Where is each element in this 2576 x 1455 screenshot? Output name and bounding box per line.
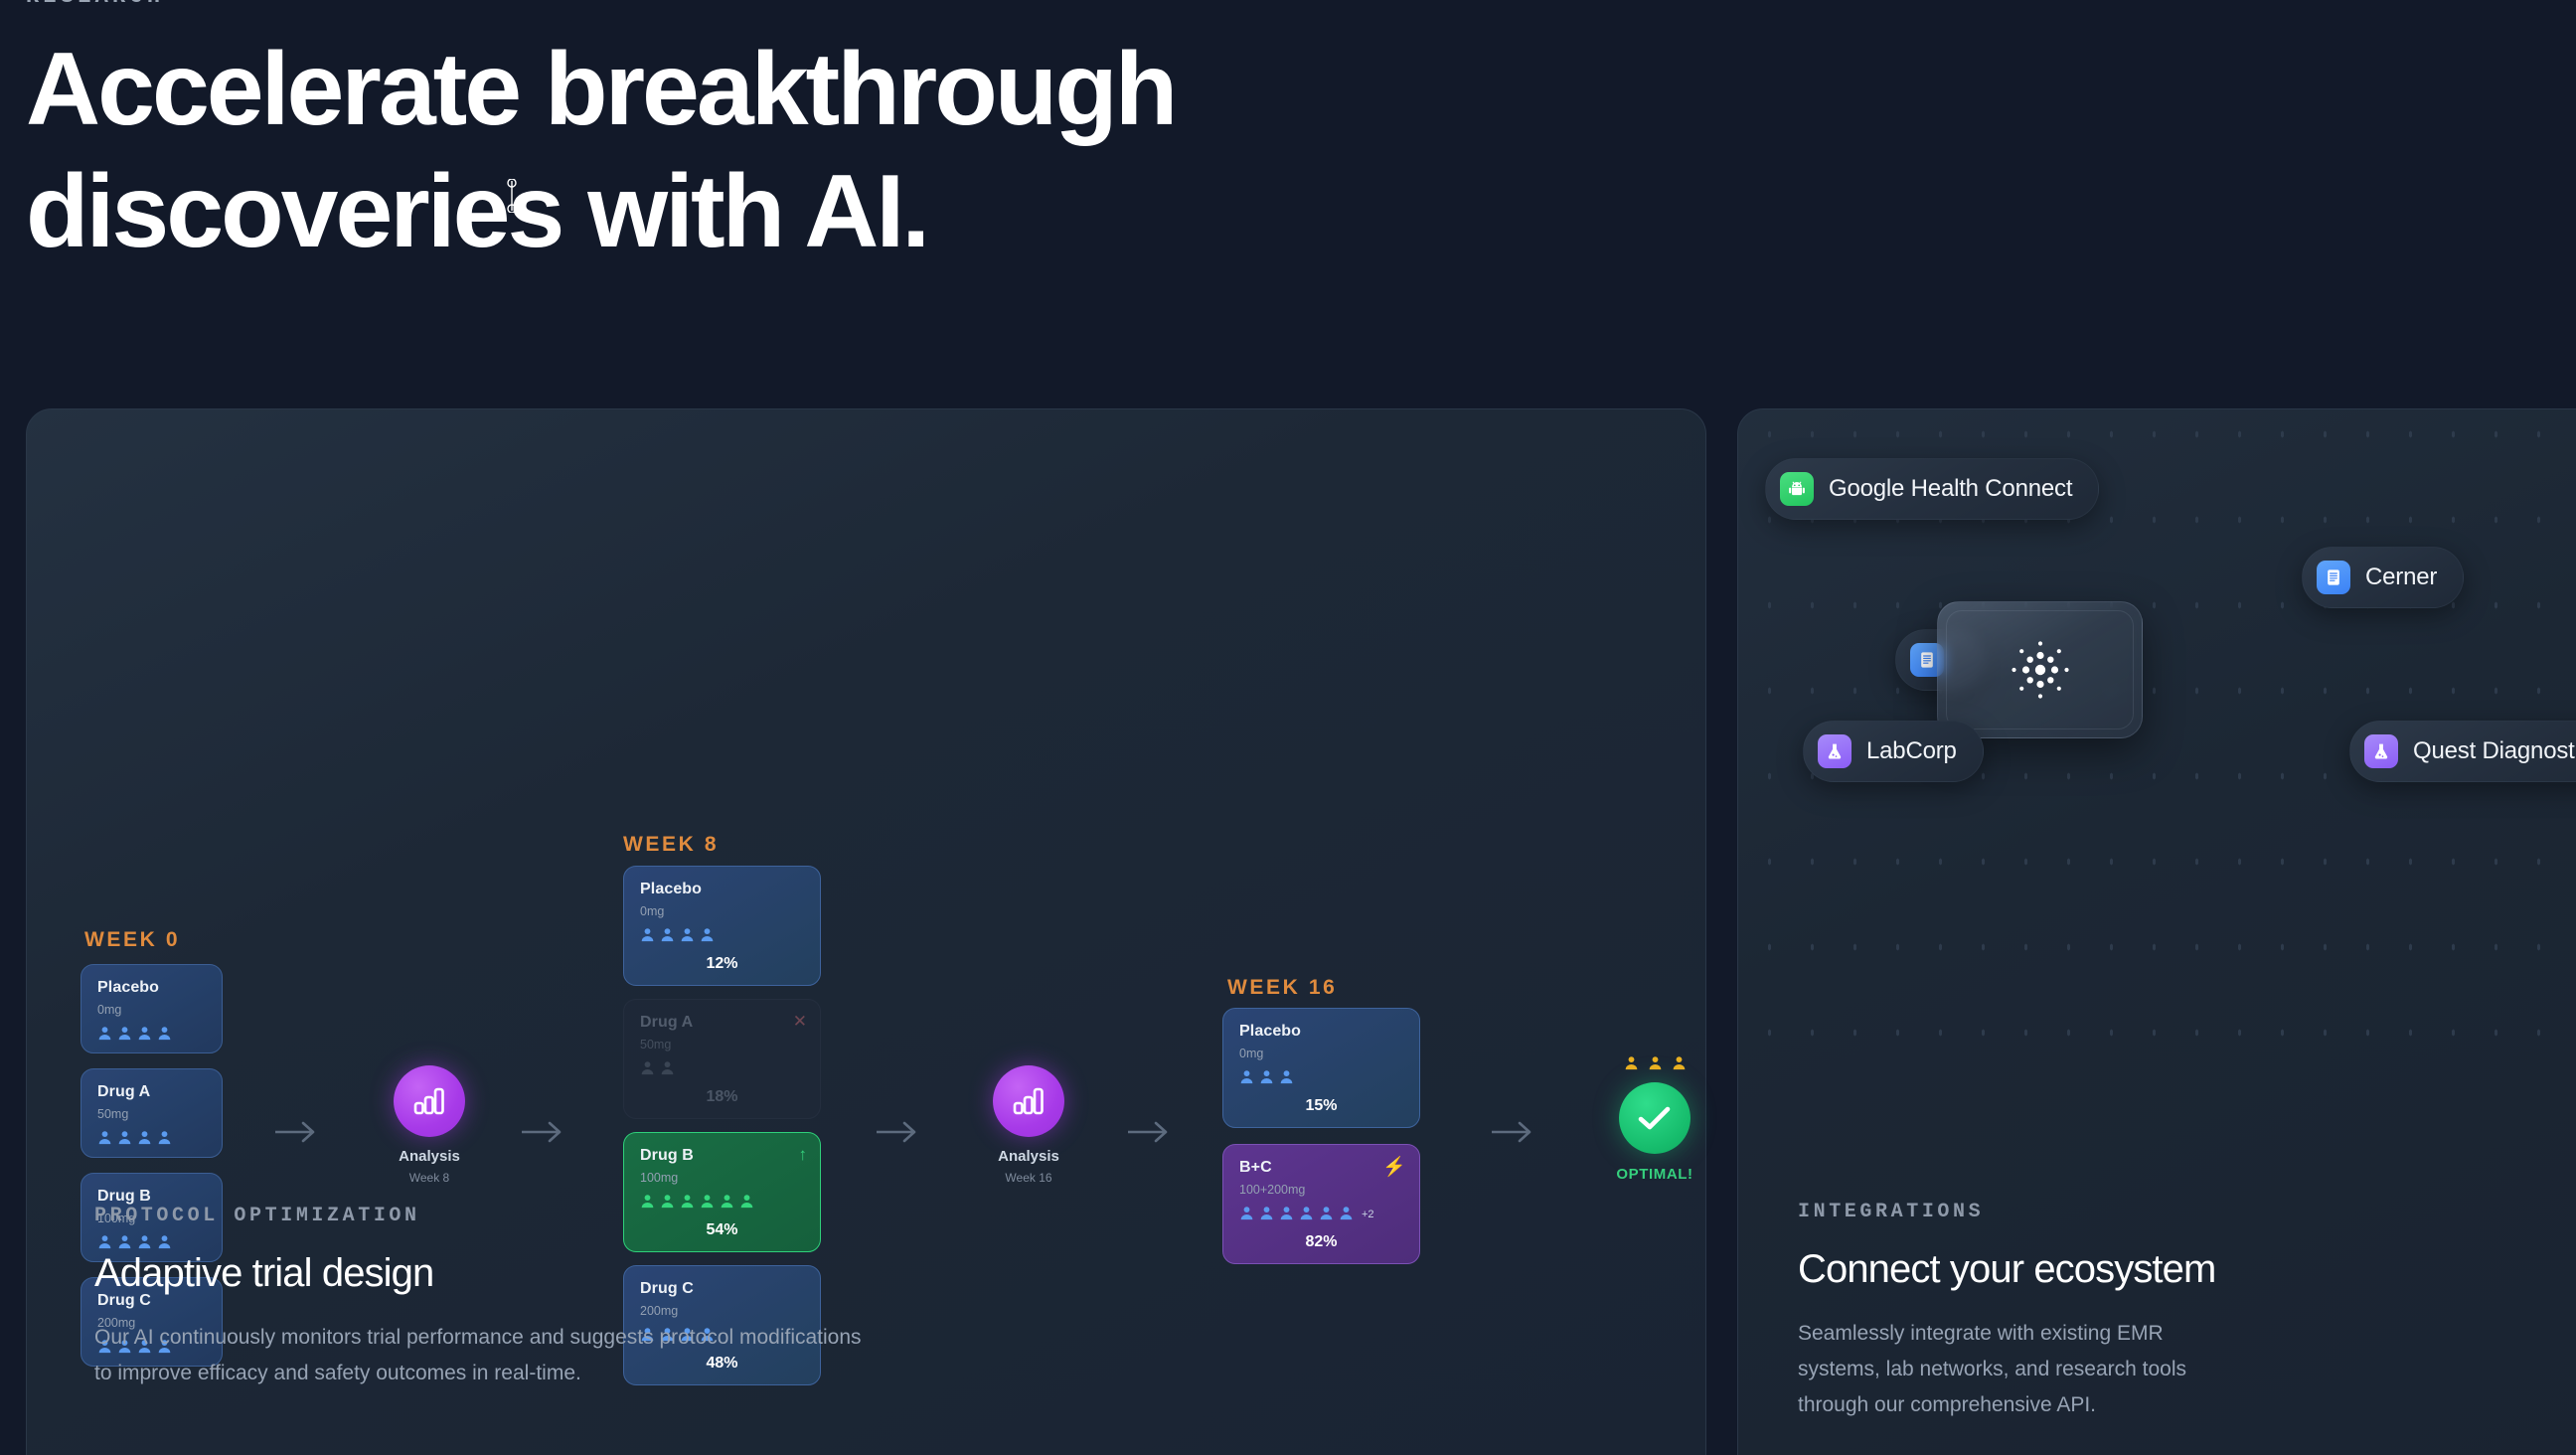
arrow-right-icon bbox=[877, 1121, 922, 1143]
arm-dose: 0mg bbox=[1239, 1047, 1403, 1060]
section-title: Connect your ecosystem bbox=[1798, 1247, 2225, 1292]
integrations-canvas: Google Health Connect bbox=[1738, 409, 2576, 1095]
arrow-right-icon bbox=[522, 1121, 567, 1143]
bar-chart-icon bbox=[412, 1086, 446, 1116]
section-body: Our AI continuously monitors trial perfo… bbox=[94, 1320, 880, 1391]
arm-name: Placebo bbox=[97, 979, 206, 997]
trial-arm-card[interactable]: Placebo 0mg bbox=[80, 964, 223, 1053]
person-icon bbox=[680, 927, 695, 942]
person-icon bbox=[1279, 1069, 1294, 1084]
participant-overflow-count: +2 bbox=[1362, 1209, 1374, 1220]
trial-arm-card[interactable]: Drug A 50mg bbox=[80, 1068, 223, 1158]
android-icon bbox=[1780, 472, 1814, 506]
person-icon bbox=[1239, 1206, 1254, 1220]
person-icon bbox=[1299, 1206, 1314, 1220]
integration-label: Quest Diagnostics bbox=[2413, 737, 2576, 765]
person-icon bbox=[117, 1026, 132, 1041]
arm-dose: 100mg bbox=[640, 1171, 804, 1185]
integration-pill-quest-diagnostics[interactable]: Quest Diagnostics bbox=[2349, 721, 2576, 782]
arm-name: Drug A bbox=[640, 1014, 804, 1032]
analysis-label: Analysis bbox=[370, 1148, 489, 1165]
page-root: RESEARCH Accelerate breakthrough discove… bbox=[0, 0, 2576, 1455]
bar-chart-icon bbox=[1012, 1086, 1046, 1116]
optimal-outcome-node: OPTIMAL! bbox=[1595, 1055, 1714, 1183]
arm-name: B+C bbox=[1239, 1159, 1403, 1177]
flask-icon bbox=[1818, 734, 1851, 768]
section-body: Seamlessly integrate with existing EMR s… bbox=[1798, 1316, 2225, 1423]
hero-section: RESEARCH Accelerate breakthrough discove… bbox=[26, 0, 1175, 272]
section-eyebrow: PROTOCOL OPTIMIZATION bbox=[94, 1205, 880, 1227]
person-icon bbox=[1672, 1055, 1687, 1070]
lightning-bolt-icon: ⚡ bbox=[1382, 1158, 1406, 1177]
integration-pill-google-health-connect[interactable]: Google Health Connect bbox=[1765, 458, 2099, 520]
arm-dose: 50mg bbox=[640, 1038, 804, 1051]
trial-arm-card[interactable]: Placebo 0mg 15% bbox=[1222, 1008, 1420, 1128]
arm-dose: 100+200mg bbox=[1239, 1183, 1403, 1197]
person-icon bbox=[660, 927, 675, 942]
integration-label: LabCorp bbox=[1866, 737, 1957, 765]
arm-response-rate: 15% bbox=[1239, 1097, 1403, 1115]
arrow-right-icon bbox=[275, 1121, 321, 1143]
arm-response-rate: 18% bbox=[640, 1088, 804, 1106]
person-icon bbox=[660, 1060, 675, 1075]
arm-participants bbox=[97, 1130, 206, 1145]
section-title: Adaptive trial design bbox=[94, 1251, 880, 1296]
trial-panel-copy: PROTOCOL OPTIMIZATION Adaptive trial des… bbox=[94, 1205, 880, 1391]
arrow-right-icon bbox=[1128, 1121, 1174, 1143]
week-label-16: WEEK 16 bbox=[1227, 976, 1337, 1000]
person-icon bbox=[137, 1130, 152, 1145]
person-icon bbox=[157, 1130, 172, 1145]
integration-label: Google Health Connect bbox=[1829, 475, 2072, 503]
integration-label: Cerner bbox=[2365, 564, 2437, 591]
week-label-0: WEEK 0 bbox=[84, 928, 180, 952]
arm-participants bbox=[640, 927, 804, 942]
arm-name: Placebo bbox=[640, 881, 804, 898]
integration-pill-cerner[interactable]: Cerner bbox=[2302, 547, 2464, 608]
integration-pill-labcorp[interactable]: LabCorp bbox=[1803, 721, 1984, 782]
trial-flow-diagram: WEEK 0 WEEK 8 WEEK 16 Placebo 0mg Drug A… bbox=[27, 409, 1707, 1095]
integrations-panel: Google Health Connect bbox=[1737, 408, 2576, 1455]
arm-participants: +2 bbox=[1239, 1206, 1403, 1220]
person-icon bbox=[1239, 1069, 1254, 1084]
person-icon bbox=[97, 1026, 112, 1041]
person-icon bbox=[157, 1026, 172, 1041]
hero-eyebrow: RESEARCH bbox=[26, 0, 1175, 9]
person-icon bbox=[1259, 1206, 1274, 1220]
person-icon bbox=[700, 927, 715, 942]
flask-icon bbox=[2364, 734, 2398, 768]
arm-dose: 0mg bbox=[97, 1003, 206, 1017]
adaptive-trial-panel: WEEK 0 WEEK 8 WEEK 16 Placebo 0mg Drug A… bbox=[26, 408, 1706, 1455]
analysis-label: Analysis bbox=[969, 1148, 1088, 1165]
trial-arm-card[interactable]: Placebo 0mg 12% bbox=[623, 866, 821, 986]
week-label-8: WEEK 8 bbox=[623, 833, 719, 857]
arm-response-rate: 12% bbox=[640, 955, 804, 973]
page-title: Accelerate breakthrough discoveries with… bbox=[26, 29, 1175, 272]
arm-response-rate: 82% bbox=[1239, 1233, 1403, 1251]
analysis-node-week8[interactable]: Analysis Week 8 bbox=[370, 1065, 489, 1185]
arm-name: Placebo bbox=[1239, 1023, 1403, 1041]
section-eyebrow: INTEGRATIONS bbox=[1798, 1201, 2225, 1223]
arrow-up-icon: ↑ bbox=[799, 1146, 808, 1163]
arm-name: Drug A bbox=[97, 1083, 206, 1101]
person-icon bbox=[1319, 1206, 1334, 1220]
optimal-participants bbox=[1595, 1055, 1714, 1070]
arm-dose: 50mg bbox=[97, 1107, 206, 1121]
trial-arm-card-dropped[interactable]: ✕ Drug A 50mg 18% bbox=[623, 999, 821, 1119]
integration-hub-card bbox=[1937, 601, 2143, 738]
arrow-right-icon bbox=[1492, 1121, 1537, 1143]
close-icon[interactable]: ✕ bbox=[793, 1013, 807, 1030]
analysis-week: Week 16 bbox=[969, 1171, 1088, 1185]
person-icon bbox=[97, 1130, 112, 1145]
person-icon bbox=[640, 927, 655, 942]
arm-name: Drug B bbox=[640, 1147, 804, 1165]
arm-participants bbox=[97, 1026, 206, 1041]
person-icon bbox=[1259, 1069, 1274, 1084]
person-icon bbox=[117, 1130, 132, 1145]
checkmark-icon bbox=[1637, 1104, 1673, 1132]
analysis-week: Week 8 bbox=[370, 1171, 489, 1185]
week16-column: Placebo 0mg 15% ⚡ B+C 100+200mg +2 82% bbox=[1222, 1008, 1420, 1264]
document-icon bbox=[2317, 561, 2350, 594]
arm-participants bbox=[640, 1060, 804, 1075]
person-icon bbox=[1624, 1055, 1639, 1070]
analysis-node-week16[interactable]: Analysis Week 16 bbox=[969, 1065, 1088, 1185]
arm-participants bbox=[1239, 1069, 1403, 1084]
person-icon bbox=[1648, 1055, 1663, 1070]
person-icon bbox=[640, 1060, 655, 1075]
optimal-label: OPTIMAL! bbox=[1595, 1166, 1714, 1183]
integrations-panel-copy: INTEGRATIONS Connect your ecosystem Seam… bbox=[1798, 1201, 2225, 1423]
person-icon bbox=[1279, 1206, 1294, 1220]
arm-name: Drug B bbox=[97, 1188, 206, 1206]
success-circle bbox=[1619, 1082, 1690, 1154]
hub-inner-border bbox=[1946, 610, 2134, 729]
person-icon bbox=[1339, 1206, 1354, 1220]
person-icon bbox=[137, 1026, 152, 1041]
analysis-circle bbox=[993, 1065, 1064, 1137]
arm-dose: 0mg bbox=[640, 904, 804, 918]
analysis-circle bbox=[394, 1065, 465, 1137]
trial-arm-card-combo[interactable]: ⚡ B+C 100+200mg +2 82% bbox=[1222, 1144, 1420, 1264]
